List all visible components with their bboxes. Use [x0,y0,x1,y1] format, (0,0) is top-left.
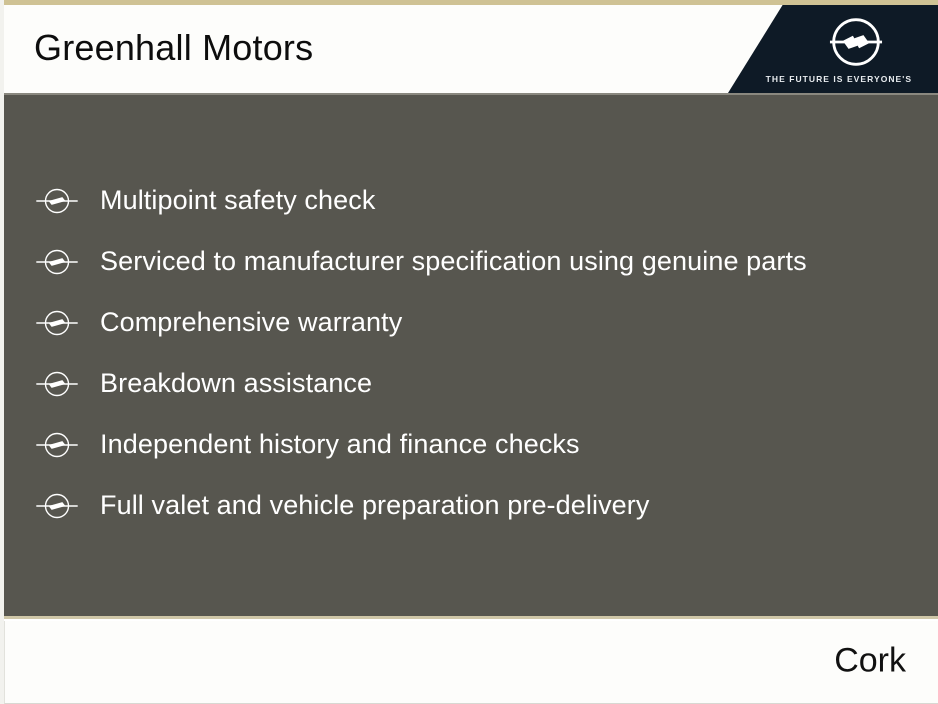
list-item: Breakdown assistance [34,353,926,414]
brand-tagline: THE FUTURE IS EVERYONE'S [766,74,912,84]
promo-card: Greenhall Motors THE FUTURE IS EVERYONE'… [0,0,938,704]
opel-blitz-bullet-icon [34,489,80,523]
opel-blitz-bullet-icon [34,184,80,218]
brand-panel: THE FUTURE IS EVERYONE'S [728,5,938,93]
list-item: Serviced to manufacturer specification u… [34,231,926,292]
page-title: Greenhall Motors [34,27,313,69]
list-item-label: Serviced to manufacturer specification u… [100,246,807,277]
features-panel: Multipoint safety check Serviced to manu… [4,95,938,619]
opel-blitz-bullet-icon [34,245,80,279]
list-item: Full valet and vehicle preparation pre-d… [34,475,926,536]
opel-blitz-bullet-icon [34,428,80,462]
list-item-label: Breakdown assistance [100,368,372,399]
feature-list: Multipoint safety check Serviced to manu… [34,170,926,536]
list-item-label: Multipoint safety check [100,185,375,216]
dealer-location: Cork [834,642,906,681]
opel-blitz-icon [825,11,887,73]
card-header: Greenhall Motors THE FUTURE IS EVERYONE'… [4,5,938,95]
list-item-label: Independent history and finance checks [100,429,580,460]
opel-blitz-bullet-icon [34,367,80,401]
opel-blitz-bullet-icon [34,306,80,340]
list-item: Multipoint safety check [34,170,926,231]
list-item-label: Comprehensive warranty [100,307,402,338]
list-item: Comprehensive warranty [34,292,926,353]
list-item: Independent history and finance checks [34,414,926,475]
list-item-label: Full valet and vehicle preparation pre-d… [100,490,650,521]
card-footer: Cork [4,621,938,704]
